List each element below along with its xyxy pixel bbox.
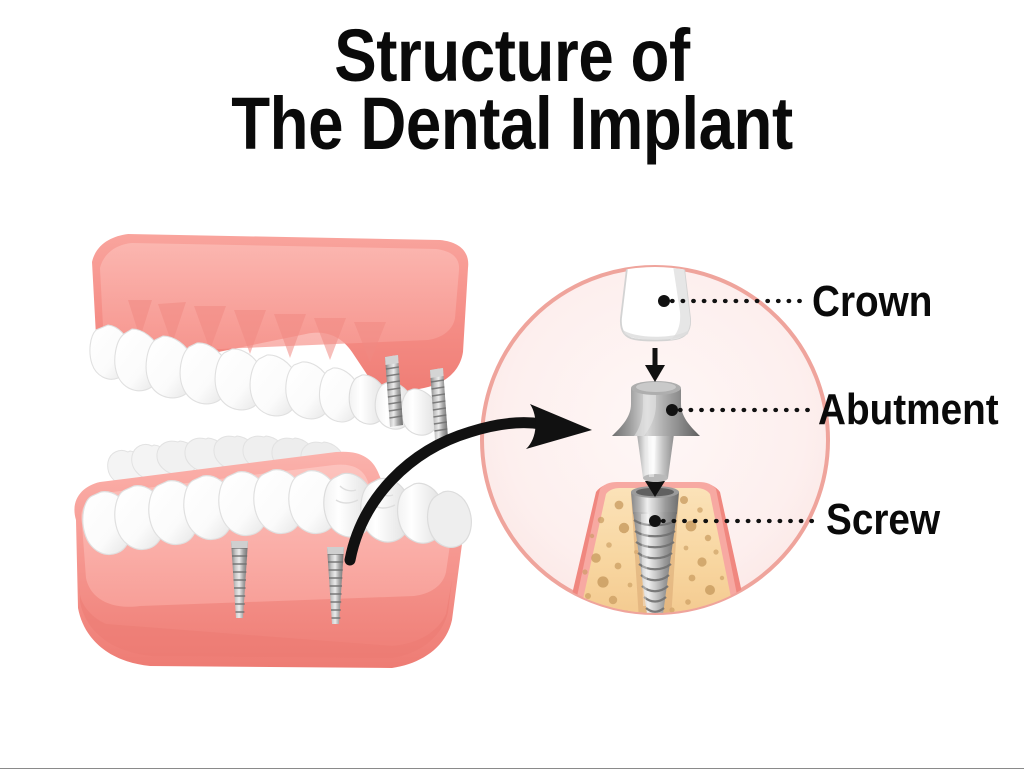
label-crown: Crown [812, 280, 932, 324]
infographic-canvas: Structure of The Dental Implant [0, 0, 1024, 769]
crown-part [621, 257, 690, 341]
label-screw: Screw [826, 498, 940, 542]
screw-anchor-dot [649, 515, 661, 527]
crown-anchor-dot [658, 295, 670, 307]
label-abutment: Abutment [818, 388, 999, 432]
abutment-anchor-dot [666, 404, 678, 416]
upper-denture-arch [90, 234, 468, 440]
lower-denture-arch [74, 436, 471, 668]
